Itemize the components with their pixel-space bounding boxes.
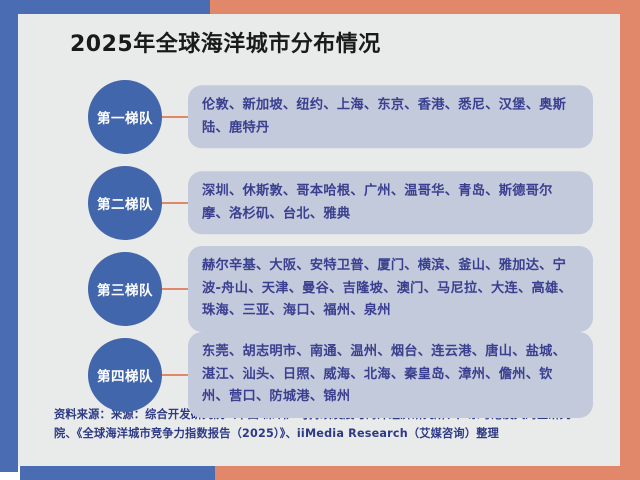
decor-bar-left-blue: [0, 0, 18, 472]
tier-badge-1: 第一梯队: [88, 80, 162, 154]
tier-cities-3: 赫尔辛基、大阪、安特卫普、厦门、横滨、釜山、雅加达、宁波-舟山、天津、曼谷、吉隆…: [188, 246, 593, 332]
tier-cities-2: 深圳、休斯敦、哥本哈根、广州、温哥华、青岛、斯德哥尔摩、洛杉矶、台北、雅典: [188, 171, 593, 234]
tier-row: 第四梯队 东莞、胡志明市、南通、温州、烟台、连云港、唐山、盐城、湛江、汕头、日照…: [18, 332, 620, 418]
decor-bar-bottom-blue: [20, 464, 215, 480]
page-title: 2025年全球海洋城市分布情况: [70, 32, 381, 58]
tier-row: 第一梯队 伦敦、新加坡、纽约、上海、东京、香港、悉尼、汉堡、奥斯陆、鹿特丹: [18, 74, 620, 160]
tier-row: 第三梯队 赫尔辛基、大阪、安特卫普、厦门、横滨、釜山、雅加达、宁波-舟山、天津、…: [18, 246, 620, 332]
infographic-root: 2025年全球海洋城市分布情况 第一梯队 伦敦、新加坡、纽约、上海、东京、香港、…: [0, 0, 640, 480]
decor-bar-bottom-orange: [215, 464, 620, 480]
tier-badge-2: 第二梯队: [88, 166, 162, 240]
tier-badge-4: 第四梯队: [88, 338, 162, 412]
decor-bar-right-orange: [620, 0, 640, 480]
tier-cities-1: 伦敦、新加坡、纽约、上海、东京、香港、悉尼、汉堡、奥斯陆、鹿特丹: [188, 85, 593, 148]
tier-badge-3: 第三梯队: [88, 252, 162, 326]
tier-row: 第二梯队 深圳、休斯敦、哥本哈根、广州、温哥华、青岛、斯德哥尔摩、洛杉矶、台北、…: [18, 160, 620, 246]
tier-list: 第一梯队 伦敦、新加坡、纽约、上海、东京、香港、悉尼、汉堡、奥斯陆、鹿特丹 第二…: [18, 74, 620, 418]
tier-cities-4: 东莞、胡志明市、南通、温州、烟台、连云港、唐山、盐城、湛江、汕头、日照、威海、北…: [188, 332, 593, 418]
content-card: 2025年全球海洋城市分布情况 第一梯队 伦敦、新加坡、纽约、上海、东京、香港、…: [18, 14, 620, 466]
